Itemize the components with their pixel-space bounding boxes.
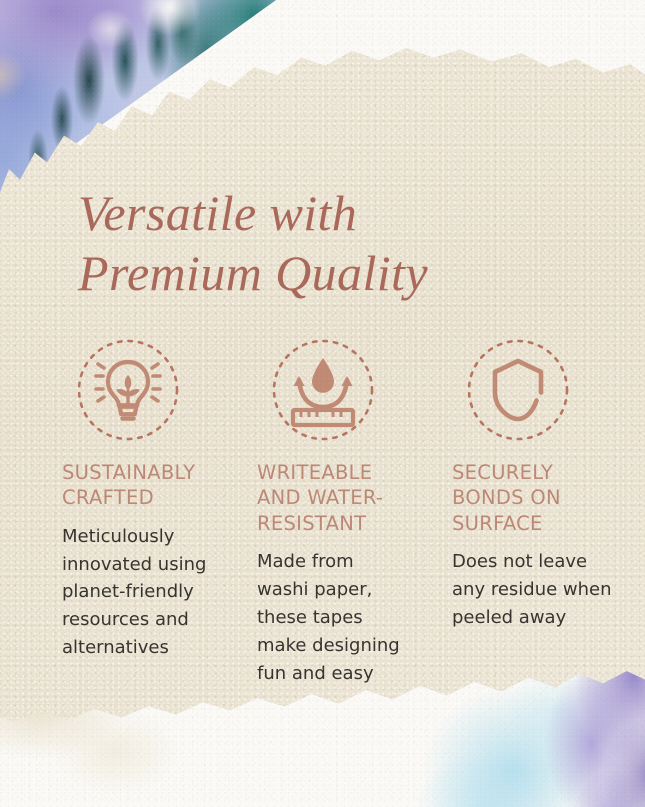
- feature-body: Made from washi paper, these tapes make …: [257, 548, 444, 687]
- feature-card-writeable-water-resistant: WRITEABLE AND WATER- RESISTANT Made from…: [257, 334, 452, 687]
- page-title: Versatile with Premium Quality: [78, 183, 578, 303]
- headline-line-1: Versatile with: [78, 183, 578, 243]
- feature-title: SUSTAINABLY CRAFTED: [62, 460, 249, 511]
- feature-card-sustainably-crafted: SUSTAINABLY CRAFTED Meticulously innovat…: [62, 334, 257, 687]
- poster-canvas: Versatile with Premium Quality: [0, 0, 645, 807]
- feature-card-securely-bonds: SECURELY BONDS ON SURFACE Does not leave…: [452, 334, 645, 687]
- feature-title: SECURELY BONDS ON SURFACE: [452, 460, 639, 536]
- feature-list: SUSTAINABLY CRAFTED Meticulously innovat…: [62, 334, 645, 687]
- feature-body: Meticulously innovated using planet-frie…: [62, 523, 249, 662]
- poster-content: Versatile with Premium Quality: [0, 0, 645, 807]
- water-droplet-repel-icon: [267, 334, 379, 446]
- shield-icon: [462, 334, 574, 446]
- feature-body: Does not leave any residue when peeled a…: [452, 548, 639, 632]
- headline-line-2: Premium Quality: [78, 243, 578, 303]
- lightbulb-leaf-icon: [72, 334, 184, 446]
- feature-title: WRITEABLE AND WATER- RESISTANT: [257, 460, 444, 536]
